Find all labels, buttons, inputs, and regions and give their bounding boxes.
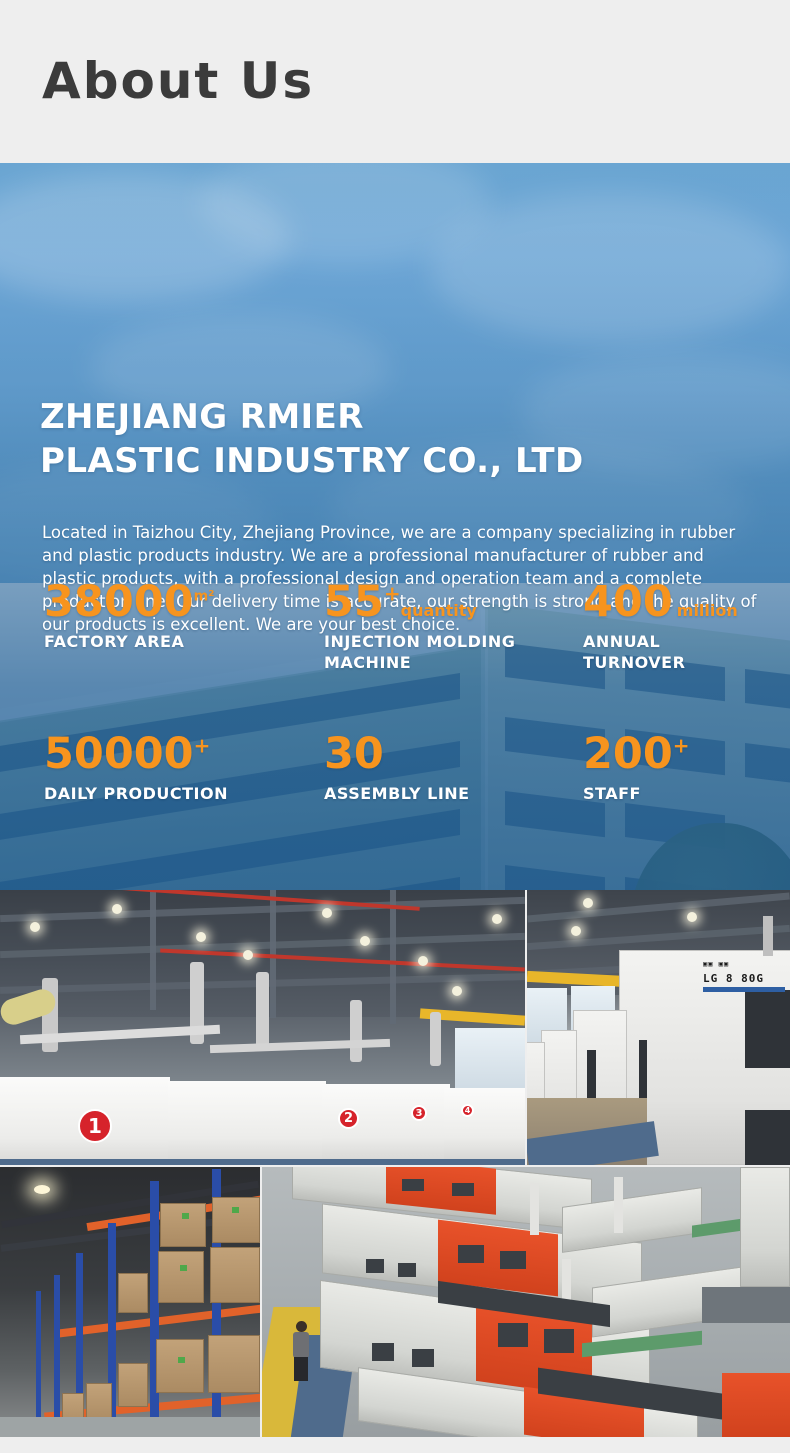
stats-grid: 38000m² FACTORY AREA 55+quantity INJECTI… [0, 163, 790, 890]
stat-label: INJECTION MOLDING MACHINE [324, 631, 515, 673]
box-label-tag [232, 1207, 239, 1213]
stat-unit: quantity [401, 601, 477, 620]
stat-factory-area: 38000m² FACTORY AREA [44, 581, 214, 652]
rack-post [150, 1181, 159, 1437]
ceiling-lamp [571, 926, 581, 936]
robot-arm [256, 972, 269, 1050]
stat-value: 30 [324, 733, 470, 776]
stat-plus: + [673, 734, 690, 758]
ceiling-lamp [322, 908, 332, 918]
storage-box [160, 1203, 206, 1247]
station-number-marker: 2 [338, 1108, 359, 1129]
machine-window [498, 1323, 528, 1347]
machine-window [452, 1183, 474, 1196]
stat-annual-turnover: 400million ANNUAL TURNOVER [583, 581, 738, 673]
ceiling-lamp [30, 922, 40, 932]
ceiling-lamp [34, 1185, 50, 1194]
worker-figure [293, 1332, 309, 1358]
equipment-cabinet [740, 1167, 790, 1287]
ceiling-lamp [196, 932, 206, 942]
stat-plus: + [384, 582, 401, 606]
machine-window [372, 1343, 394, 1361]
robot-arm [763, 916, 773, 956]
storage-box [118, 1273, 148, 1313]
equipment-cabinet [702, 1287, 790, 1323]
molding-machine-body [444, 1088, 525, 1160]
factory-window [455, 1028, 525, 1090]
robot-arm [614, 1177, 623, 1233]
rack-post [36, 1291, 41, 1437]
box-label-tag [182, 1213, 189, 1219]
ceiling-lamp [418, 956, 428, 966]
machine-brand-text: ▣▣ ▣▣ [703, 960, 729, 968]
gallery-photo-molding-machine-closeup[interactable]: ▣▣ ▣▣ LG 8 80G [527, 890, 790, 1165]
stat-value: 400million [583, 581, 738, 624]
box-label-tag [178, 1357, 185, 1363]
worker-figure [294, 1357, 308, 1381]
stat-label: ASSEMBLY LINE [324, 783, 470, 804]
stat-value: 50000+ [44, 733, 228, 776]
ceiling-lamp [452, 986, 462, 996]
roof-beam [390, 890, 396, 1024]
warehouse-floor [0, 1417, 260, 1437]
about-us-page: About Us [0, 0, 790, 1453]
stat-daily-production: 50000+ DAILY PRODUCTION [44, 733, 228, 804]
storage-box [156, 1339, 204, 1393]
station-number-marker: 1 [78, 1109, 112, 1143]
robot-arm [430, 1012, 441, 1066]
machine-window [398, 1263, 416, 1277]
factory-floor [0, 1159, 525, 1165]
page-footer [0, 1437, 790, 1453]
machine-window [745, 990, 790, 1068]
stat-label: STAFF [583, 783, 690, 804]
hero-content: ZHEJIANG RMIER PLASTIC INDUSTRY CO., LTD… [0, 163, 790, 890]
box-label-tag [180, 1265, 187, 1271]
page-title: About Us [42, 56, 314, 106]
machine-window [745, 1110, 790, 1165]
machine-window [402, 1179, 424, 1191]
station-number-marker: 4 [461, 1104, 474, 1117]
ceiling-lamp [243, 950, 253, 960]
stat-unit: m² [194, 589, 215, 605]
ceiling-lamp [360, 936, 370, 946]
machine-window [544, 1329, 574, 1353]
rack-post [54, 1275, 60, 1437]
page-header: About Us [0, 0, 790, 163]
machine-window [458, 1245, 484, 1263]
machine-model-label: LG 8 80G [703, 972, 764, 985]
worker-figure [296, 1321, 307, 1332]
station-number-marker: 3 [411, 1105, 427, 1121]
stat-value: 38000m² [44, 581, 214, 624]
ceiling-lamp [492, 914, 502, 924]
factory-photo-gallery: 1 2 3 4 ▣▣ ▣▣ LG 8 80G [0, 890, 790, 1437]
stat-label: DAILY PRODUCTION [44, 783, 228, 804]
ceiling-lamp [583, 898, 593, 908]
stat-plus: + [194, 734, 211, 758]
stat-value: 55+quantity [324, 581, 515, 624]
storage-box [158, 1251, 204, 1303]
hero-section: ZHEJIANG RMIER PLASTIC INDUSTRY CO., LTD… [0, 163, 790, 890]
machine-window [500, 1251, 526, 1269]
storage-box [210, 1247, 260, 1303]
robot-arm [530, 1183, 539, 1235]
molding-machine-body [168, 1081, 326, 1164]
gallery-photo-production-line-overview[interactable] [262, 1167, 790, 1437]
storage-box [212, 1197, 260, 1243]
gallery-photo-injection-molding-workshop-row[interactable]: 1 2 3 4 [0, 890, 525, 1165]
robot-arm [350, 1000, 362, 1062]
roof-beam [150, 890, 156, 1010]
ceiling-lamp [112, 904, 122, 914]
machine-orange-guard [722, 1373, 790, 1437]
ceiling-lamp [687, 912, 697, 922]
machine-window [412, 1349, 434, 1367]
gallery-photo-warehouse-storage-racks[interactable] [0, 1167, 260, 1437]
machine-window [366, 1259, 384, 1273]
storage-box [118, 1363, 148, 1407]
stat-staff: 200+ STAFF [583, 733, 690, 804]
stat-label: ANNUAL TURNOVER [583, 631, 738, 673]
stat-value: 200+ [583, 733, 690, 776]
stat-injection-molding-machine: 55+quantity INJECTION MOLDING MACHINE [324, 581, 515, 673]
machine-decal-stripe [703, 987, 785, 992]
stat-unit: million [677, 601, 738, 620]
stat-label: FACTORY AREA [44, 631, 214, 652]
stat-assembly-line: 30 ASSEMBLY LINE [324, 733, 470, 804]
storage-box [208, 1335, 260, 1393]
